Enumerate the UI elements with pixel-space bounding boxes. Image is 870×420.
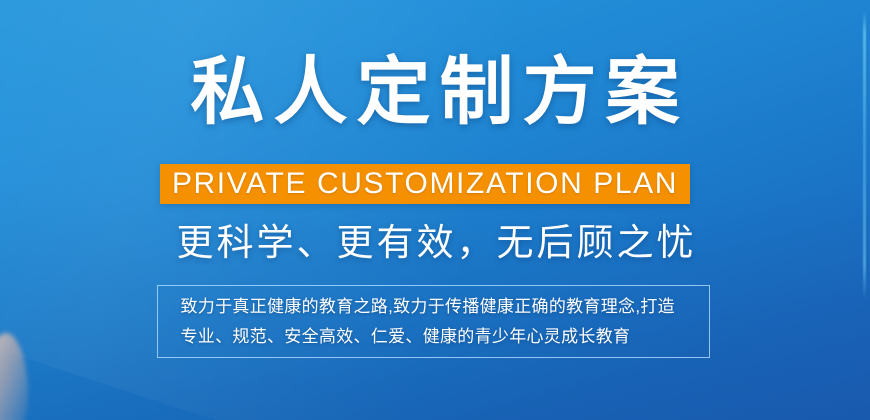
subtitle-band: PRIVATE CUSTOMIZATION PLAN <box>160 164 690 204</box>
banner-description: 致力于真正健康的教育之路,致力于传播健康正确的教育理念,打造专业、规范、安全高效… <box>181 292 687 352</box>
promotional-banner: 私人定制方案 PRIVATE CUSTOMIZATION PLAN 更科学、更有… <box>0 0 870 420</box>
banner-headline: 私人定制方案 <box>0 55 870 129</box>
banner-content: 私人定制方案 PRIVATE CUSTOMIZATION PLAN 更科学、更有… <box>0 0 870 420</box>
banner-tagline: 更科学、更有效，无后顾之忧 <box>0 221 870 265</box>
banner-subtitle: PRIVATE CUSTOMIZATION PLAN <box>172 169 678 199</box>
description-box: 致力于真正健康的教育之路,致力于传播健康正确的教育理念,打造专业、规范、安全高效… <box>157 285 710 358</box>
